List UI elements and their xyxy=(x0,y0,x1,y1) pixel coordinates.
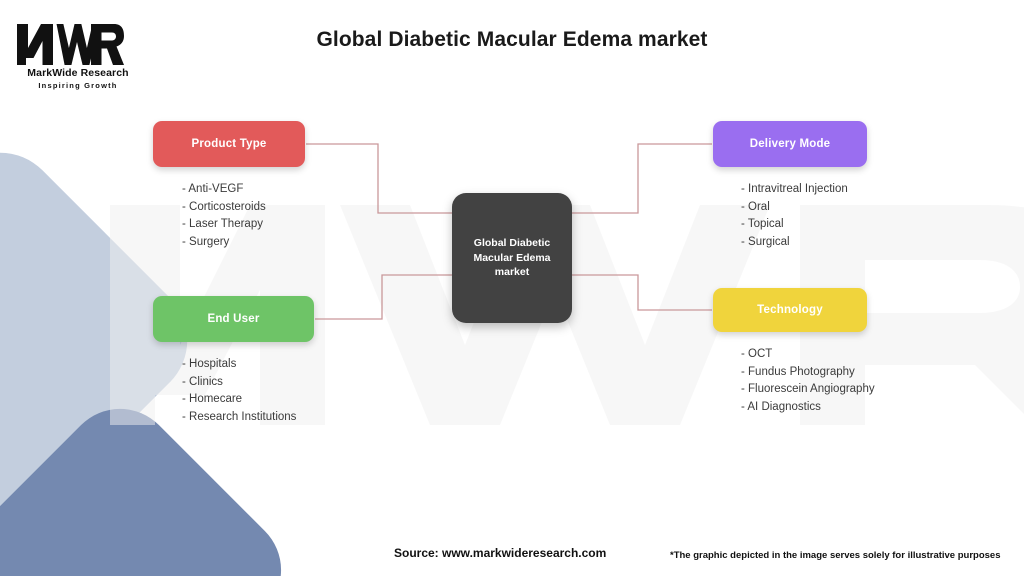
branch-end-user-header[interactable]: End User xyxy=(153,296,314,342)
connector-technology xyxy=(572,275,712,310)
list-item: - Homecare xyxy=(182,391,314,409)
center-node-label: Global Diabetic Macular Edema market xyxy=(462,236,562,280)
logo-tagline: Inspiring Growth xyxy=(16,81,140,90)
center-node[interactable]: Global Diabetic Macular Edema market xyxy=(452,193,572,323)
branch-technology-label: Technology xyxy=(757,304,823,316)
branch-end-user-items: - Hospitals - Clinics - Homecare - Resea… xyxy=(182,356,314,426)
branch-product-type-header[interactable]: Product Type xyxy=(153,121,305,167)
branch-end-user-label: End User xyxy=(207,313,259,325)
list-item: - Laser Therapy xyxy=(182,216,305,234)
list-item: - Oral xyxy=(741,199,867,217)
list-item: - Clinics xyxy=(182,374,314,392)
footer-disclaimer: *The graphic depicted in the image serve… xyxy=(670,550,1001,561)
branch-technology: Technology - OCT - Fundus Photography - … xyxy=(713,288,875,416)
branch-delivery-mode-label: Delivery Mode xyxy=(750,138,831,150)
connector-end-user xyxy=(315,275,452,319)
list-item: - Fundus Photography xyxy=(741,364,875,382)
branch-delivery-mode-items: - Intravitreal Injection - Oral - Topica… xyxy=(741,181,867,251)
list-item: - Intravitreal Injection xyxy=(741,181,867,199)
list-item: - Corticosteroids xyxy=(182,199,305,217)
branch-technology-header[interactable]: Technology xyxy=(713,288,867,332)
branch-product-type-label: Product Type xyxy=(191,138,266,150)
connector-product-type xyxy=(306,144,452,213)
connector-delivery-mode xyxy=(572,144,712,213)
branch-technology-items: - OCT - Fundus Photography - Fluorescein… xyxy=(741,346,875,416)
list-item: - Hospitals xyxy=(182,356,314,374)
branch-delivery-mode: Delivery Mode - Intravitreal Injection -… xyxy=(713,121,867,251)
list-item: - Anti-VEGF xyxy=(182,181,305,199)
list-item: - Topical xyxy=(741,216,867,234)
branch-delivery-mode-header[interactable]: Delivery Mode xyxy=(713,121,867,167)
footer-source: Source: www.markwideresearch.com xyxy=(394,546,606,560)
branch-product-type: Product Type - Anti-VEGF - Corticosteroi… xyxy=(153,121,305,251)
infographic-canvas: MarkWide Research Inspiring Growth Globa… xyxy=(0,0,1024,576)
list-item: - Fluorescein Angiography xyxy=(741,381,875,399)
branch-end-user: End User - Hospitals - Clinics - Homecar… xyxy=(153,296,314,426)
logo-company-name: MarkWide Research xyxy=(16,67,140,79)
list-item: - OCT xyxy=(741,346,875,364)
page-title: Global Diabetic Macular Edema market xyxy=(0,28,1024,52)
list-item: - Research Institutions xyxy=(182,409,314,427)
list-item: - Surgery xyxy=(182,234,305,252)
branch-product-type-items: - Anti-VEGF - Corticosteroids - Laser Th… xyxy=(182,181,305,251)
list-item: - Surgical xyxy=(741,234,867,252)
list-item: - AI Diagnostics xyxy=(741,399,875,417)
